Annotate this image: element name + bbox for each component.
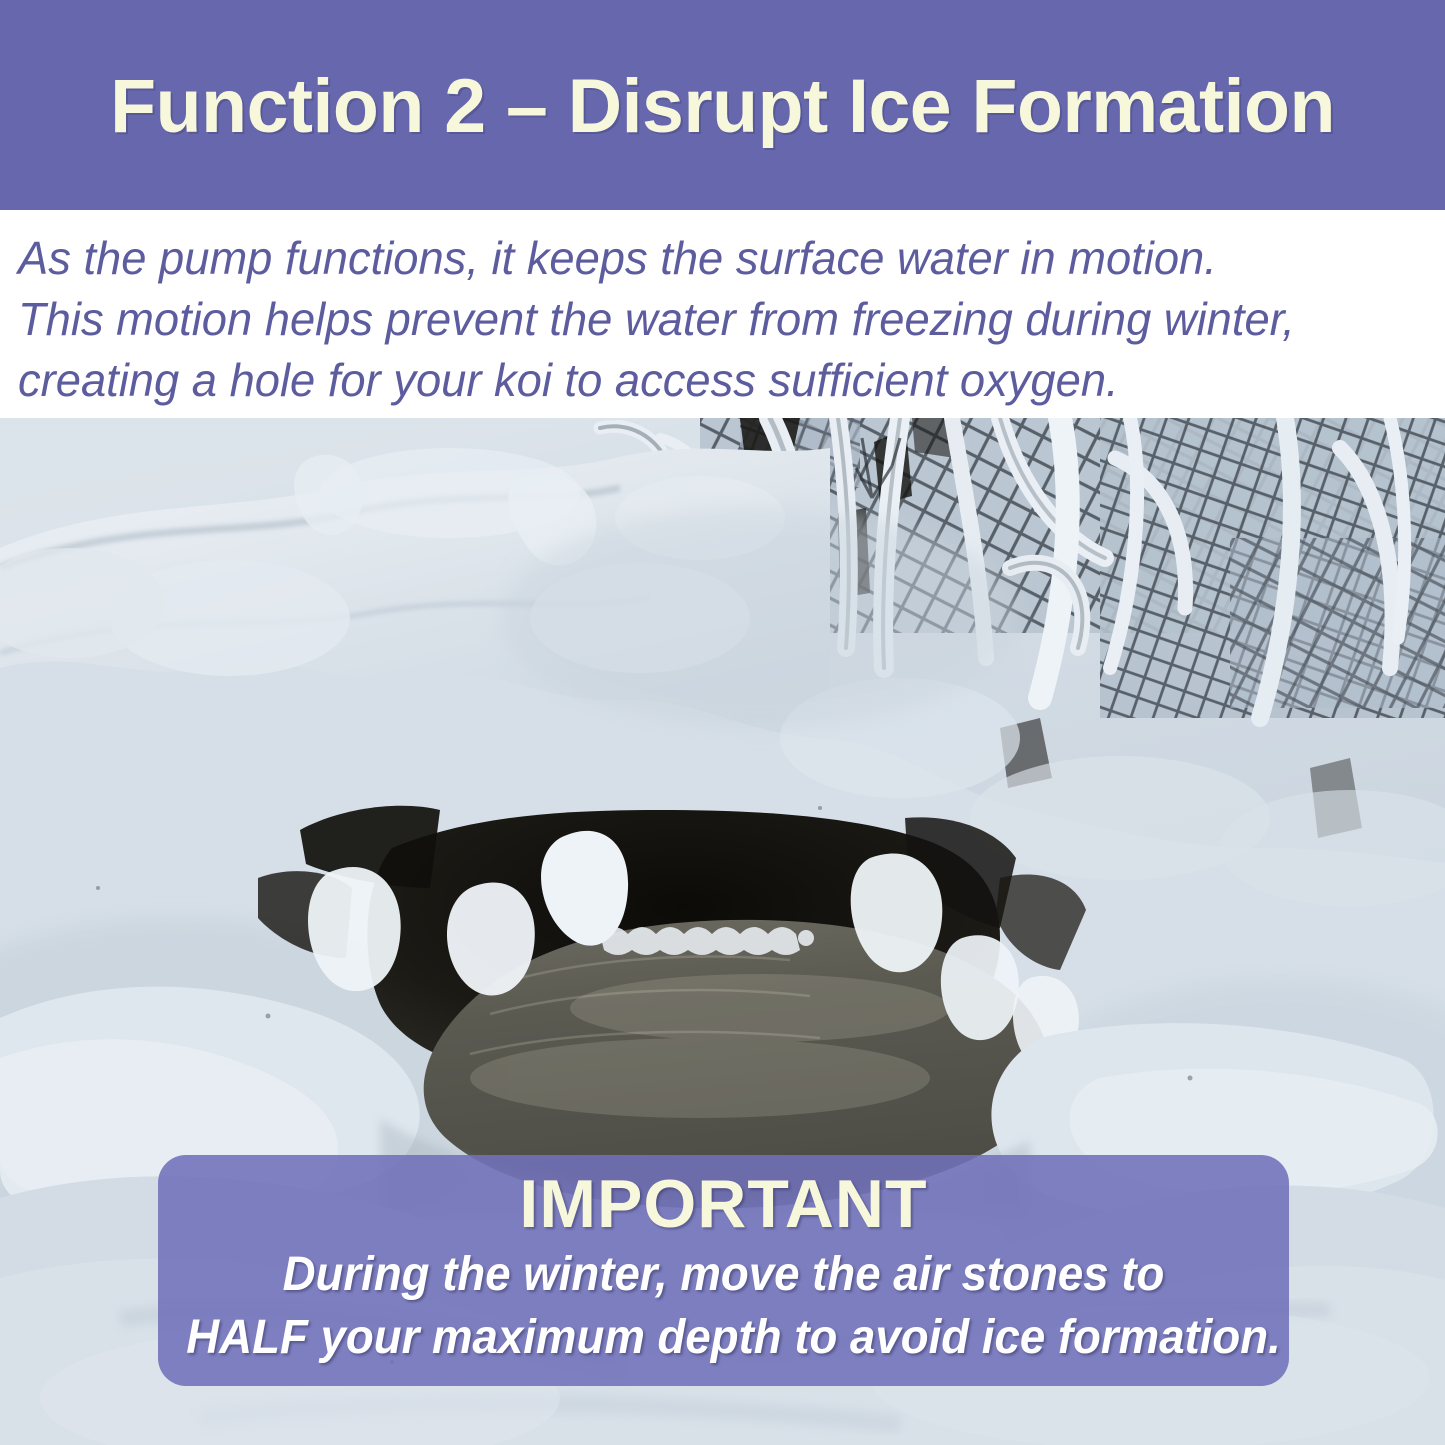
page-title: Function 2 – Disrupt Ice Formation <box>110 65 1335 145</box>
header-bar: Function 2 – Disrupt Ice Formation <box>0 0 1445 210</box>
important-line-1: During the winter, move the air stones t… <box>186 1243 1260 1306</box>
intro-paragraph-block: As the pump functions, it keeps the surf… <box>0 210 1445 418</box>
infographic-page: Function 2 – Disrupt Ice Formation As th… <box>0 0 1445 1445</box>
intro-line-2: This motion helps prevent the water from… <box>18 289 1424 350</box>
important-line-2: HALF your maximum depth to avoid ice for… <box>186 1306 1260 1369</box>
intro-line-1: As the pump functions, it keeps the surf… <box>18 228 1424 289</box>
important-heading: IMPORTANT <box>158 1165 1289 1243</box>
intro-line-3: creating a hole for your koi to access s… <box>18 350 1424 411</box>
important-callout-box: IMPORTANT During the winter, move the ai… <box>158 1155 1289 1386</box>
